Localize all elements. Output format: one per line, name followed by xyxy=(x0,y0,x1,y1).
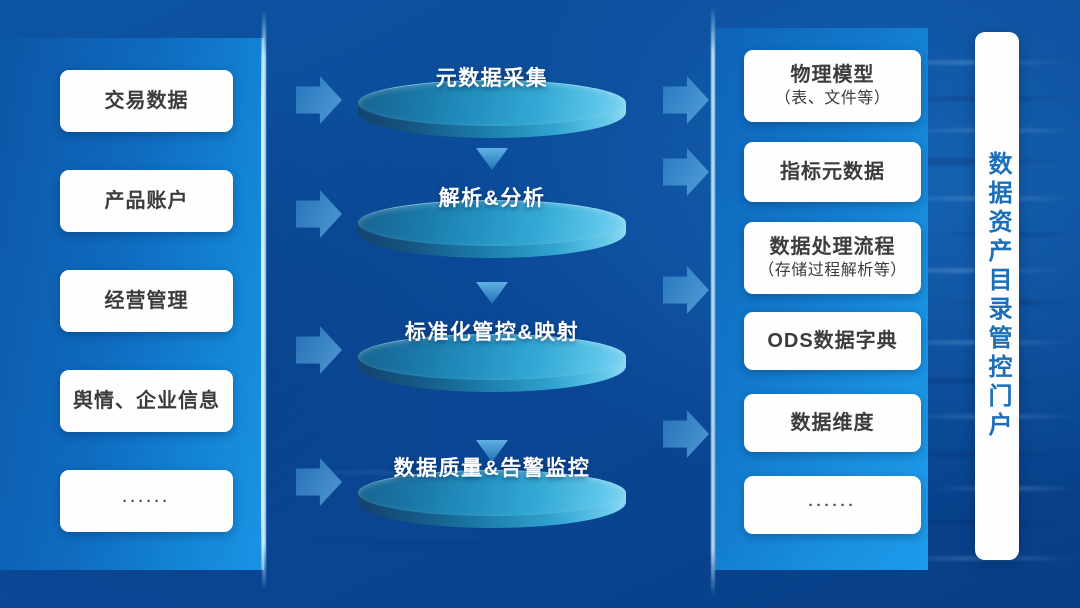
card-label: 物理模型 xyxy=(791,63,875,88)
stage-cylinder-parse-analyze[interactable]: 解析&分析 xyxy=(358,200,626,258)
flow-arrow-out-1 xyxy=(663,76,709,124)
source-card-product-account[interactable]: 产品账户 xyxy=(60,170,233,232)
portal-title: 数据资产目录管控门户 xyxy=(985,151,1009,441)
right-panel-edge-glow xyxy=(711,6,715,596)
card-label: ······ xyxy=(809,497,857,514)
stage-label: 解析&分析 xyxy=(358,182,626,212)
card-label: 数据维度 xyxy=(791,411,875,436)
card-label: ······ xyxy=(123,493,171,510)
source-card-public-opinion[interactable]: 舆情、企业信息 xyxy=(60,370,233,432)
source-card-more[interactable]: ······ xyxy=(60,470,233,532)
source-card-transaction[interactable]: 交易数据 xyxy=(60,70,233,132)
stage-label: 元数据采集 xyxy=(358,62,626,92)
card-label: 数据处理流程 xyxy=(770,235,896,260)
card-sublabel: （存储过程解析等） xyxy=(758,261,907,282)
card-sublabel: （表、文件等） xyxy=(775,89,891,110)
flow-arrow-down-1 xyxy=(476,148,508,170)
stage-cylinder-standardization-mapping[interactable]: 标准化管控&映射 xyxy=(358,334,626,392)
flow-arrow-out-3 xyxy=(663,266,709,314)
flow-arrow-out-2 xyxy=(663,148,709,196)
output-card-data-dimension[interactable]: 数据维度 xyxy=(744,394,921,452)
card-label: 经营管理 xyxy=(105,289,189,314)
stage-cylinder-quality-alert-monitor[interactable]: 数据质量&告警监控 xyxy=(358,470,626,528)
card-label: ODS数据字典 xyxy=(767,329,897,354)
card-label: 交易数据 xyxy=(105,89,189,114)
card-label: 舆情、企业信息 xyxy=(73,389,220,414)
card-label: 产品账户 xyxy=(105,189,189,214)
output-card-data-process-flow[interactable]: 数据处理流程 （存储过程解析等） xyxy=(744,222,921,294)
output-card-ods-dictionary[interactable]: ODS数据字典 xyxy=(744,312,921,370)
flow-arrow-out-4 xyxy=(663,410,709,458)
stage-cylinder-metadata-collection[interactable]: 元数据采集 xyxy=(358,80,626,138)
flow-arrow-right-2 xyxy=(296,190,342,238)
portal-bar[interactable]: 数据资产目录管控门户 xyxy=(975,32,1019,560)
flow-arrow-right-4 xyxy=(296,458,342,506)
infographic-canvas: 交易数据 产品账户 经营管理 舆情、企业信息 ······ 元数据采集 解析&分… xyxy=(0,0,1080,608)
output-card-physical-model[interactable]: 物理模型 （表、文件等） xyxy=(744,50,921,122)
output-card-more[interactable]: ······ xyxy=(744,476,921,534)
stage-label: 标准化管控&映射 xyxy=(358,316,626,346)
left-panel-edge-glow xyxy=(262,10,266,590)
source-card-business-management[interactable]: 经营管理 xyxy=(60,270,233,332)
card-label: 指标元数据 xyxy=(780,160,885,185)
output-card-indicator-metadata[interactable]: 指标元数据 xyxy=(744,142,921,202)
flow-arrow-down-2 xyxy=(476,282,508,304)
flow-arrow-right-3 xyxy=(296,326,342,374)
flow-arrow-right-1 xyxy=(296,76,342,124)
